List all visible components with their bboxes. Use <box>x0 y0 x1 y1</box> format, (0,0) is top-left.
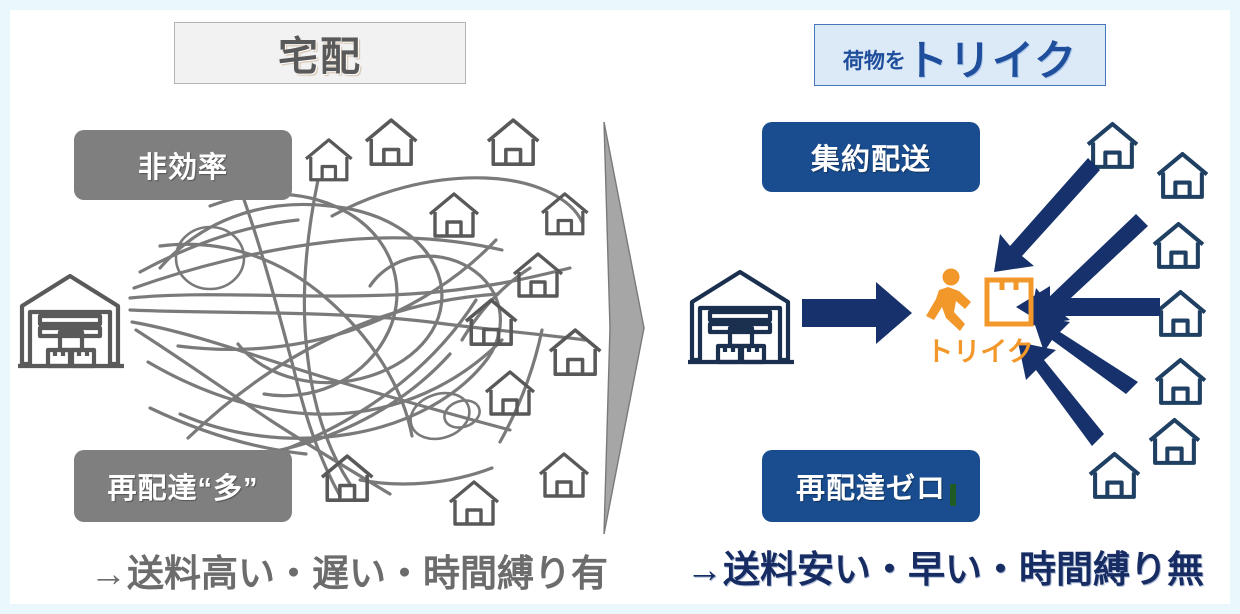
tangled-route-lines <box>130 178 585 496</box>
left-title-label: 宅配 <box>278 24 362 82</box>
right-title-big-label: トリイク <box>906 40 1077 82</box>
badge-redelivery-zero: 再配達ゼロ <box>762 450 980 522</box>
section-divider-arrow-icon <box>600 122 648 534</box>
right-title-small-label: 荷物を <box>843 51 906 72</box>
tangled-loops <box>176 227 483 446</box>
slide-canvas: 宅配 荷物を トリイク 非効率 再配達“多” 集約配送 再配達ゼロ トリイク <box>0 0 1240 614</box>
right-title-box: 荷物を トリイク <box>814 24 1106 86</box>
left-caption: →送料高い・遅い・時間縛り有 <box>90 543 608 597</box>
warehouse-icon-right <box>688 272 794 362</box>
badge-redelivery-many: 再配達“多” <box>74 450 292 522</box>
walking-person-icon <box>926 269 971 332</box>
badge-consolidated-delivery: 集約配送 <box>762 122 980 192</box>
trike-label: トリイク <box>915 330 1045 369</box>
outbound-arrow-icon <box>802 282 912 344</box>
badge-inefficient: 非効率 <box>74 130 292 200</box>
warehouse-icon-left <box>18 276 124 366</box>
accent-tick-mark <box>950 484 956 506</box>
badge-inefficient-label: 非効率 <box>138 144 228 186</box>
house-icon-group-left <box>306 120 600 524</box>
trike-icons <box>915 268 1045 338</box>
package-box-icon <box>987 280 1031 324</box>
left-title-box: 宅配 <box>174 22 466 84</box>
right-caption: →送料安い・早い・時間縛り無 <box>686 539 1204 593</box>
trike-mark: トリイク <box>915 268 1045 368</box>
badge-consolidated-delivery-label: 集約配送 <box>811 136 931 178</box>
badge-redelivery-zero-label: 再配達ゼロ <box>796 465 946 507</box>
badge-redelivery-many-label: 再配達“多” <box>107 465 258 507</box>
house-icon-group-right <box>1088 124 1207 497</box>
